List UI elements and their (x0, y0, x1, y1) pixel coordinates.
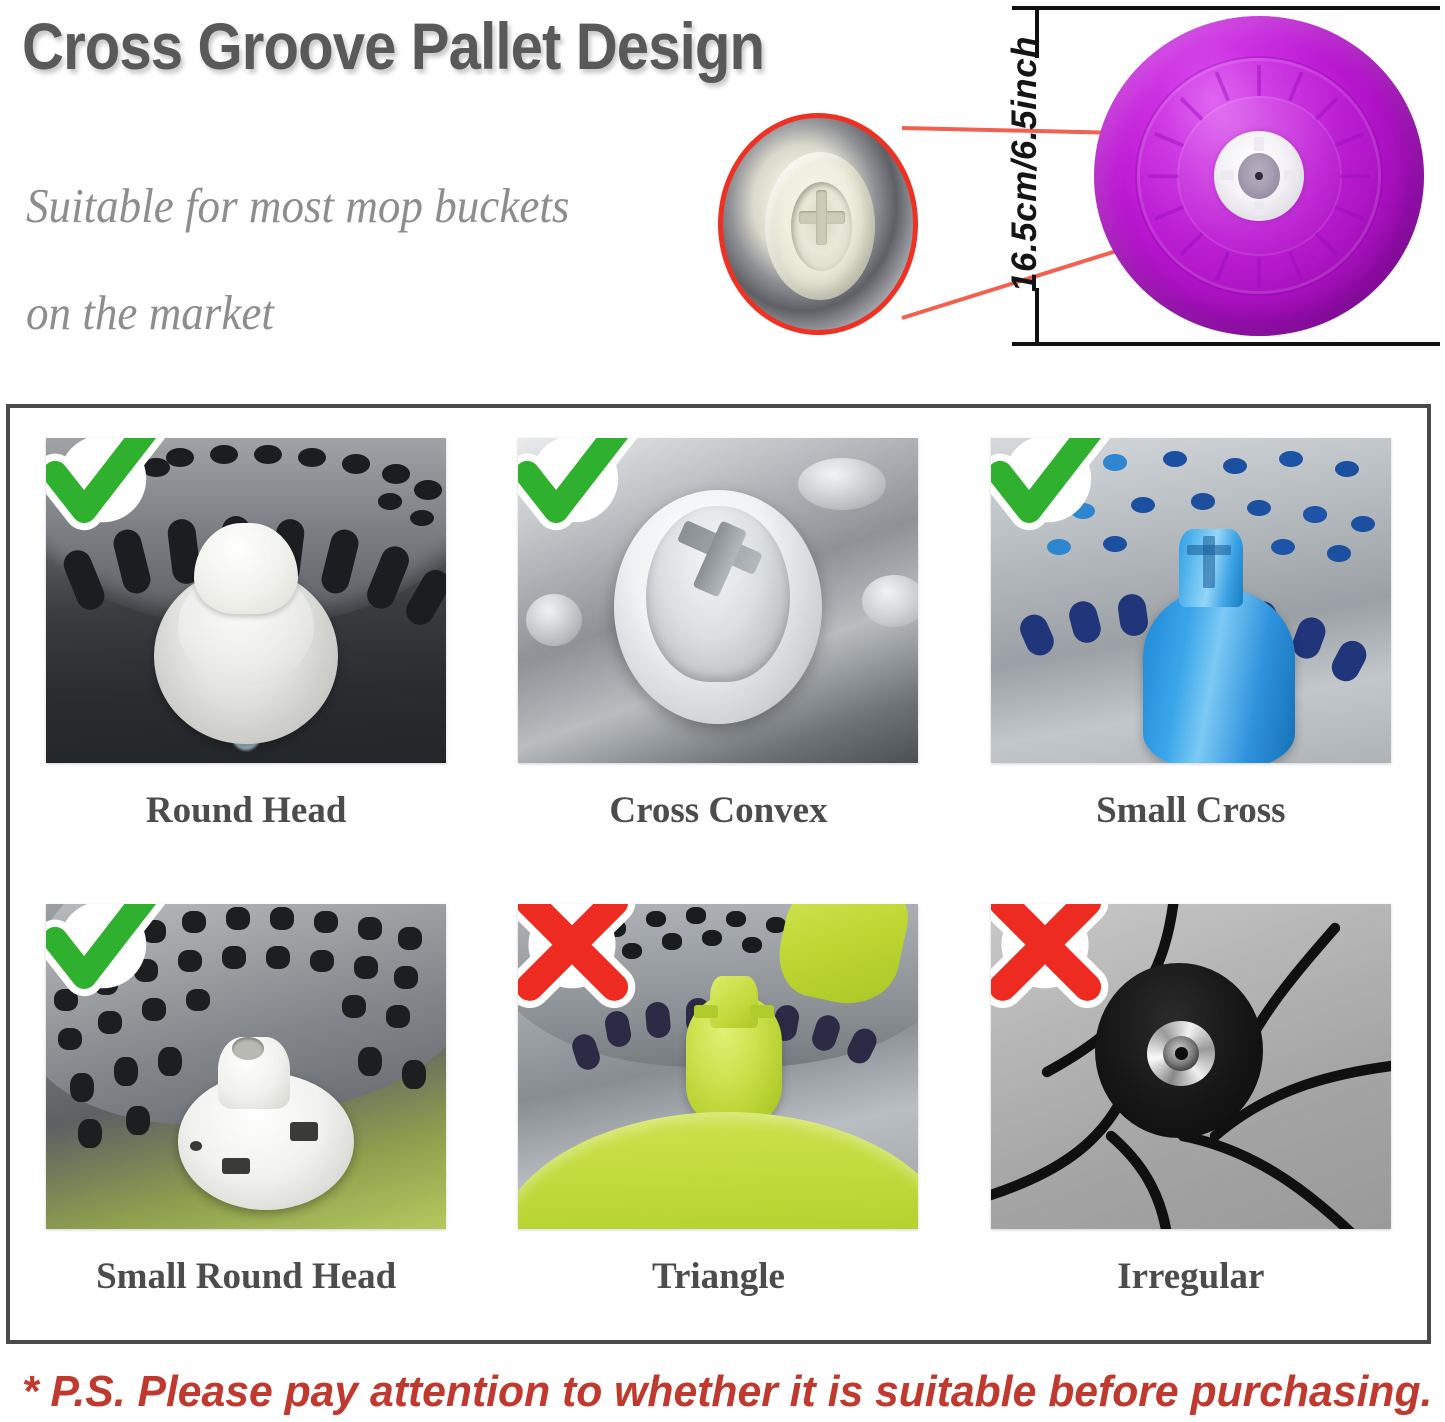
photo-irregular (991, 904, 1391, 1229)
dimension-line-top (1012, 6, 1440, 10)
photo-cross-convex (518, 438, 918, 763)
dimension-label: 16.5cm/6.5inch (1004, 62, 1046, 292)
compatibility-panel: Round Head Cross C (6, 404, 1431, 1344)
compat-label-small-round-head: Small Round Head (96, 1255, 396, 1299)
photo-small-cross (991, 438, 1391, 763)
footer-disclaimer: * P.S. Please pay attention to whether i… (22, 1366, 1399, 1418)
green-check-icon (518, 438, 638, 550)
photo-round-head (46, 438, 446, 763)
dimension-tick-bottom (1035, 288, 1039, 346)
compat-cell-small-cross: Small Cross (955, 408, 1427, 874)
cross-groove-vertical (816, 190, 827, 245)
compat-cell-small-round-head: Small Round Head (10, 874, 482, 1340)
page-title: Cross Groove Pallet Design (22, 8, 764, 84)
red-cross-icon (991, 904, 1111, 1016)
socket-notch-bottom (1254, 201, 1265, 215)
photo-triangle (518, 904, 918, 1229)
blue-spindle-base (1143, 588, 1295, 764)
green-bucket-rim (518, 1112, 918, 1229)
page-subtitle: Suitable for most mop buckets on the mar… (26, 152, 670, 366)
compat-cell-triangle: Triangle (482, 874, 954, 1340)
dimension-line-bottom (1012, 342, 1440, 346)
compat-label-small-cross: Small Cross (1096, 789, 1285, 833)
green-check-icon (46, 904, 166, 1016)
photo-small-round-head (46, 904, 446, 1229)
disc-hub (1214, 131, 1303, 221)
compat-cell-round-head: Round Head (10, 408, 482, 874)
green-check-icon (991, 438, 1111, 550)
compat-label-cross-convex: Cross Convex (609, 789, 827, 833)
triangle-stem (710, 976, 758, 1028)
socket-notch-right (1284, 170, 1298, 181)
red-cross-icon (518, 904, 638, 1016)
socket-notch-left (1220, 170, 1234, 181)
green-check-icon (46, 438, 166, 550)
compat-cell-irregular: Irregular (955, 874, 1427, 1340)
compat-label-irregular: Irregular (1117, 1255, 1264, 1299)
magnifier-inset-socket-detail (718, 113, 918, 335)
small-round-head-bore (232, 1037, 264, 1060)
compat-label-triangle: Triangle (652, 1255, 785, 1299)
compat-label-round-head: Round Head (146, 789, 346, 833)
purple-mop-pallet-disc (1094, 16, 1424, 336)
socket-notch-top (1254, 137, 1265, 151)
compatibility-grid: Round Head Cross C (10, 408, 1427, 1340)
compat-cell-cross-convex: Cross Convex (482, 408, 954, 874)
socket-center-dot (1255, 172, 1262, 180)
